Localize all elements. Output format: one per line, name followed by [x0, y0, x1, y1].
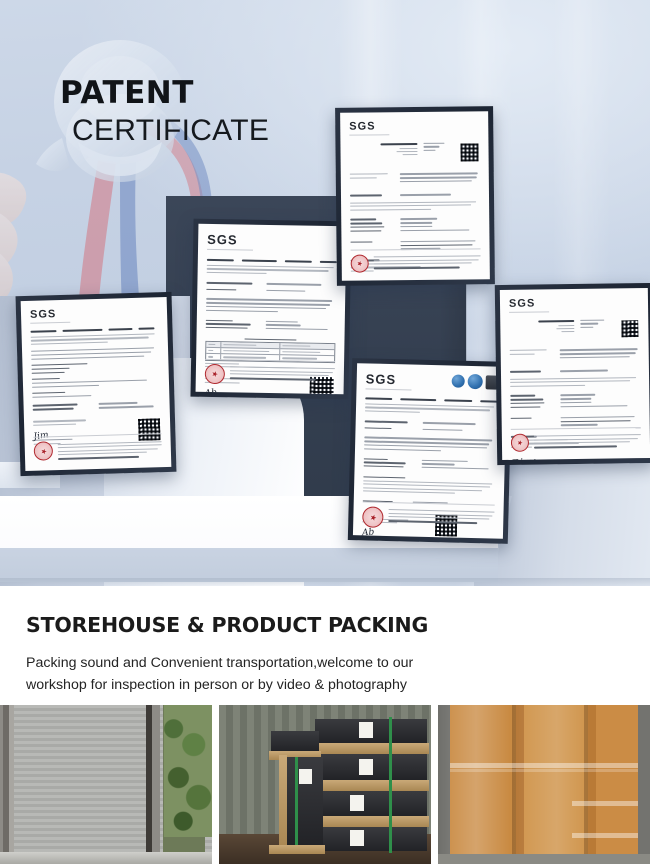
shipping-label — [359, 722, 373, 738]
wooden-pallet — [279, 755, 287, 849]
report-header-row — [30, 327, 158, 333]
hero-headline: PATENT CERTIFICATE — [60, 78, 269, 147]
red-seal-stamp-icon — [34, 442, 54, 462]
report-fields-3 — [32, 389, 160, 398]
section-body-line2: workshop for inspection in person or by … — [26, 677, 407, 693]
certificate-mat: SGS — [500, 288, 650, 460]
certificate-frame-4[interactable]: SGS — [348, 358, 512, 544]
certificate-header: SGS — [365, 371, 497, 392]
sgs-underline — [207, 249, 253, 251]
report-fields-2 — [32, 375, 160, 388]
report-paragraph-1 — [350, 201, 480, 210]
photo-strip — [0, 705, 650, 864]
certificate-sheet: SGS — [500, 288, 650, 460]
report-sample-row — [510, 367, 640, 375]
shipping-label — [350, 795, 364, 811]
certificate-sheet: SGS — [340, 111, 490, 281]
sgs-logo: SGS — [30, 305, 158, 321]
wooden-pallet — [269, 845, 325, 854]
storehouse-section: STOREHOUSE & PRODUCT PACKING Packing sou… — [0, 586, 650, 864]
report-paragraph-1 — [364, 437, 496, 453]
page-root: PATENT CERTIFICATE SGS — [0, 0, 650, 864]
sgs-underline — [30, 322, 70, 324]
qr-code-icon — [459, 142, 479, 162]
report-title-block — [509, 319, 639, 340]
sgs-underline — [365, 388, 411, 390]
wooden-pallet — [311, 743, 429, 754]
certificate-sheet: SGS — [196, 224, 347, 395]
roll-highlight — [438, 705, 650, 864]
sgs-underline — [349, 134, 389, 135]
certificate-footer — [351, 248, 481, 272]
certificate-frame-2[interactable]: SGS — [190, 219, 351, 400]
section-body: Packing sound and Convenient transportat… — [26, 652, 626, 696]
report-header-row — [207, 259, 337, 263]
certificate-mat: SGS — [21, 297, 172, 471]
red-seal-stamp-icon — [511, 434, 529, 452]
headline-certificate: CERTIFICATE — [72, 115, 269, 147]
ground-detail — [438, 854, 650, 864]
certificate-frame-5[interactable]: SGS — [495, 283, 650, 465]
wrapped-goods — [315, 827, 427, 851]
podium-shadow — [0, 578, 650, 586]
certificate-footer — [205, 359, 335, 386]
sgs-logo: SGS — [207, 232, 337, 249]
report-paragraph-1 — [206, 298, 336, 313]
report-intro-block — [365, 403, 497, 414]
certificate-footer — [511, 427, 641, 452]
certificate-frame-1[interactable]: SGS — [16, 292, 177, 476]
photo-kraft-paper-rolls[interactable] — [438, 705, 650, 864]
report-dates — [510, 391, 640, 410]
report-dates — [33, 399, 161, 413]
report-fields-1 — [510, 346, 640, 362]
certificate-mat: SGS — [353, 363, 507, 539]
certificate-sheet: SGS — [353, 363, 507, 539]
shipping-label — [299, 769, 312, 784]
certificate-footer — [362, 501, 495, 530]
green-strap — [389, 717, 392, 853]
wooden-pallet — [311, 780, 429, 791]
accreditation-badges — [452, 374, 498, 390]
red-seal-stamp-icon — [351, 254, 369, 272]
photo-storehouse-sheets[interactable] — [0, 705, 212, 864]
wrapped-goods — [315, 791, 427, 816]
certificate-mat: SGS — [340, 111, 490, 281]
patent-certificate-hero: PATENT CERTIFICATE SGS — [0, 0, 650, 586]
sgs-logo: SGS — [349, 119, 479, 132]
report-paragraph-1 — [510, 377, 640, 387]
headline-patent: PATENT — [60, 78, 269, 109]
report-dates — [206, 317, 336, 333]
report-header-row — [365, 397, 497, 402]
section-body-line1: Packing sound and Convenient transportat… — [26, 655, 413, 671]
wooden-pallet — [311, 816, 429, 827]
sgs-logo: SGS — [509, 296, 639, 310]
sgs-logo: SGS — [366, 371, 412, 387]
report-paragraph-1 — [31, 347, 159, 360]
red-seal-stamp-icon — [205, 364, 225, 384]
red-seal-stamp-icon — [362, 506, 384, 528]
certificate-sheet: SGS — [21, 297, 172, 471]
report-fields-1 — [350, 170, 480, 185]
report-fields-2 — [206, 286, 336, 294]
green-strap — [295, 757, 298, 849]
floor-detail — [0, 852, 212, 864]
accreditation-badge-icon — [468, 374, 483, 389]
signature-icon: Ab — [204, 384, 264, 395]
certificate-footer — [33, 433, 162, 462]
section-title: STOREHOUSE & PRODUCT PACKING — [26, 613, 428, 637]
photo-container-pallets[interactable] — [219, 705, 431, 864]
report-conclusion — [363, 476, 495, 495]
qr-code-icon — [620, 319, 639, 338]
cnas-badge-icon — [452, 375, 465, 388]
report-dates — [350, 215, 480, 234]
certificate-mat: SGS — [196, 224, 347, 395]
wrapped-goods — [271, 731, 319, 751]
podium-front-base — [0, 548, 498, 582]
report-fields-1 — [31, 361, 159, 374]
report-title-block — [349, 142, 479, 163]
shipping-label — [350, 830, 364, 846]
foliage-detail — [164, 705, 212, 837]
report-intro-block — [207, 265, 337, 275]
certificate-frame-3[interactable]: SGS — [335, 106, 495, 286]
shipping-label — [359, 759, 373, 775]
report-sample-row — [350, 191, 480, 199]
report-intro-block — [31, 333, 159, 345]
sgs-underline — [509, 311, 549, 313]
report-dates — [364, 456, 496, 473]
